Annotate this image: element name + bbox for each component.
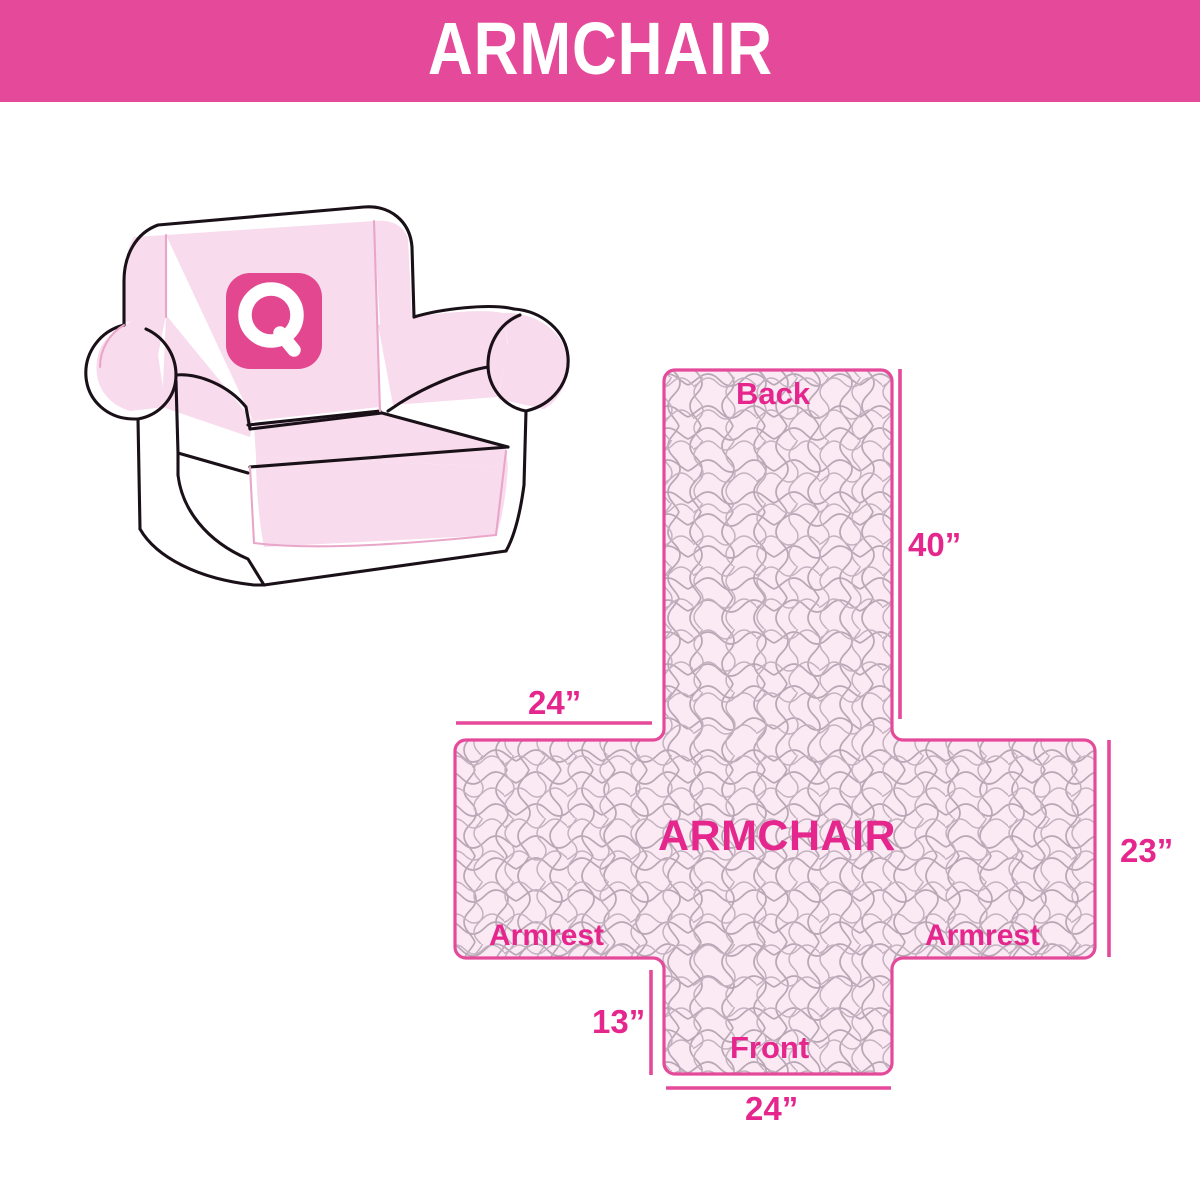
panel-label-front: Front bbox=[730, 1032, 809, 1063]
panel-label-armrest-left: Armrest bbox=[489, 921, 604, 951]
slipcover-cross-diagram bbox=[430, 340, 1190, 1140]
brand-logo bbox=[226, 273, 322, 369]
dimension-label-seat-depth: 23” bbox=[1120, 834, 1173, 867]
dimension-label-back-width: 24” bbox=[528, 686, 581, 719]
dimension-label-back-height: 40” bbox=[908, 528, 961, 561]
diagram-center-label: ARMCHAIR bbox=[658, 815, 896, 858]
dimension-label-front-height: 13” bbox=[592, 1005, 645, 1038]
page-title: ARMCHAIR bbox=[427, 12, 772, 86]
panel-label-back: Back bbox=[736, 378, 810, 409]
panel-label-armrest-right: Armrest bbox=[925, 921, 1040, 951]
header-banner: ARMCHAIR bbox=[0, 0, 1200, 102]
cross-shape bbox=[430, 340, 1190, 1140]
dimension-label-front-width: 24” bbox=[745, 1092, 798, 1125]
